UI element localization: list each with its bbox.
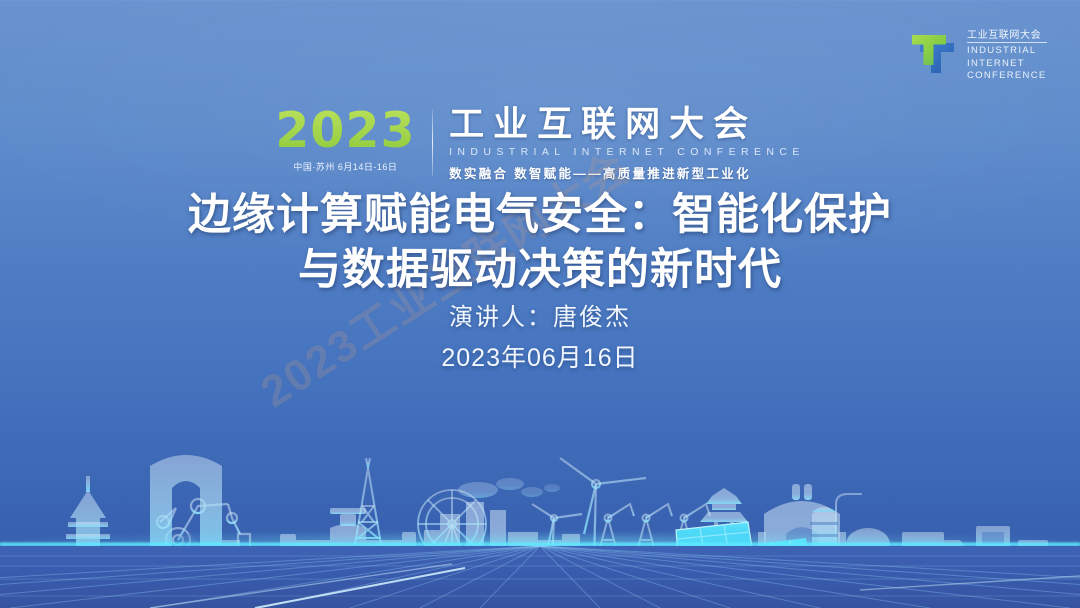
perspective-grid-ground — [0, 546, 1080, 608]
presentation-date: 2023年06月16日 — [0, 340, 1080, 378]
presentation-title-slide: 工业互联网大会 INDUSTRIAL INTERNET CONFERENCE 2… — [0, 0, 1080, 608]
corner-logo-text: 工业互联网大会 INDUSTRIAL INTERNET CONFERENCE — [967, 25, 1047, 81]
event-lockup: 2023 中国·苏州 6月14日-16日 工业互联网大会 INDUSTRIAL … — [0, 106, 1080, 182]
corner-conference-logo: 工业互联网大会 INDUSTRIAL INTERNET CONFERENCE — [906, 20, 1070, 86]
lockup-divider — [432, 109, 434, 176]
conference-logo-mark-icon — [906, 27, 958, 79]
event-title-block: 工业互联网大会 INDUSTRIAL INTERNET CONFERENCE 数… — [449, 106, 805, 182]
page-title-line2: 与数据驱动决策的新时代 — [0, 243, 1080, 298]
speaker-name: 演讲人：唐俊杰 — [449, 304, 631, 331]
page-title-line1: 边缘计算赋能电气安全：智能化保护 — [188, 191, 892, 239]
page-title: 边缘计算赋能电气安全：智能化保护 与数据驱动决策的新时代 — [0, 188, 1080, 298]
event-year: 2023 — [275, 108, 415, 155]
corner-logo-en-line2: INTERNET — [967, 58, 1047, 69]
corner-logo-en-line3: CONFERENCE — [967, 70, 1047, 81]
event-year-block: 2023 中国·苏州 6月14日-16日 — [275, 106, 415, 182]
event-en-title: INDUSTRIAL INTERNET CONFERENCE — [449, 146, 805, 158]
event-location-dates: 中国·苏州 6月14日-16日 — [293, 160, 397, 173]
event-cn-title: 工业互联网大会 — [449, 107, 805, 143]
corner-logo-en-line1: INDUSTRIAL — [967, 45, 1047, 56]
event-slogan: 数实融合 数智赋能——高质量推进新型工业化 — [449, 163, 805, 182]
corner-logo-cn-name: 工业互联网大会 — [967, 26, 1047, 44]
speaker-byline: 演讲人：唐俊杰 2023年06月16日 — [0, 300, 1080, 378]
